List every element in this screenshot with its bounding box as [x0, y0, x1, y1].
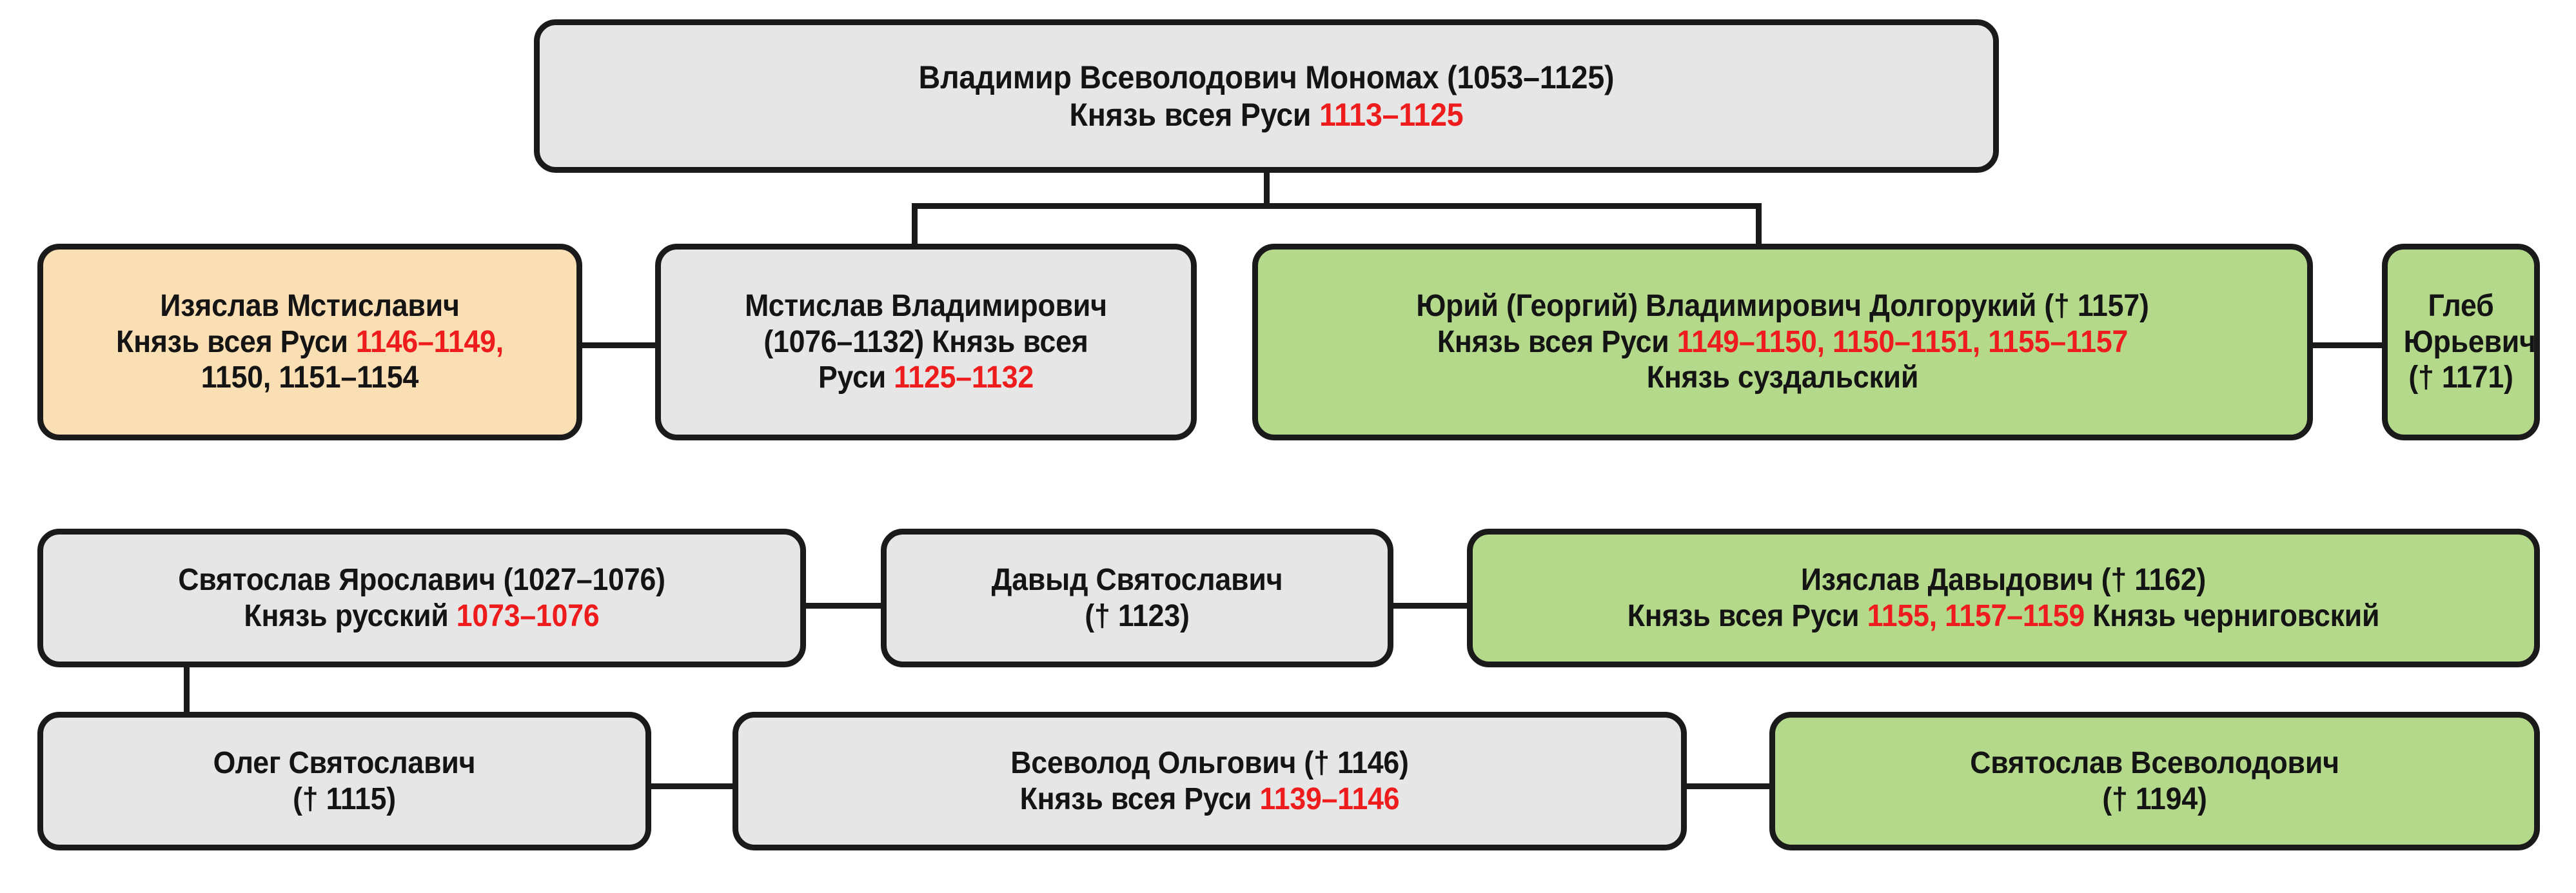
connector-vsevolod-svyatoslav	[1683, 783, 1773, 789]
connector-yuri-gleb	[2308, 342, 2386, 348]
node-name: Владимир Всеволодович Мономах (1053–1125…	[602, 59, 1932, 96]
connector-svyatoslav-oleg	[184, 664, 190, 714]
node-vsevolod-olgovich[interactable]: Всеволод Ольгович († 1146) Князь всея Ру…	[732, 712, 1687, 850]
node-dates: (1076–1132) Князь всея	[691, 324, 1162, 360]
node-death-year: († 1194)	[1813, 781, 2497, 818]
connector-to-mstislav	[912, 203, 918, 245]
reign-years: 1073–1076	[457, 599, 600, 633]
connector-oleg-vsevolod	[648, 783, 735, 789]
node-death-year: († 1115)	[75, 781, 613, 818]
reign-years: 1149–1150, 1150–1151, 1155–1157	[1677, 325, 2128, 359]
node-name: Всеволод Ольгович († 1146)	[782, 745, 1637, 781]
node-name: Юрий (Георгий) Владимирович Долгорукий (…	[1306, 288, 2260, 324]
node-title: Руси 1125–1132	[691, 360, 1162, 396]
node-title: Князь всея Руси 1139–1146	[782, 781, 1637, 818]
connector-svyatoslav-davyd	[803, 603, 883, 609]
connector-to-yuri	[1756, 203, 1762, 245]
connector-sibling-bus	[912, 203, 1762, 209]
connector-izyaslav-mstislav	[578, 342, 659, 348]
node-svyatoslav-yaroslavich[interactable]: Святослав Ярославич (1027–1076) Князь ру…	[37, 529, 806, 667]
node-name: Изяслав Давыдович († 1162)	[1520, 562, 2486, 598]
reign-years-line1: 1146–1149,	[356, 325, 504, 359]
node-name: Святослав Всеволодович	[1813, 745, 2497, 781]
node-title: Князь всея Руси 1149–1150, 1150–1151, 11…	[1306, 324, 2260, 360]
genealogy-diagram: Владимир Всеволодович Мономах (1053–1125…	[0, 0, 2576, 893]
node-svyatoslav-vsevolodovich[interactable]: Святослав Всеволодович († 1194)	[1769, 712, 2540, 850]
node-davyd-svyatoslavich[interactable]: Давыд Святославич († 1123)	[881, 529, 1393, 667]
node-vladimir-monomakh[interactable]: Владимир Всеволодович Мономах (1053–1125…	[534, 19, 1999, 173]
connector-davyd-izyaslav	[1390, 603, 1470, 609]
node-title: Князь русский 1073–1076	[81, 598, 763, 634]
node-name-patronymic: Юрьевич	[2404, 324, 2519, 360]
node-gleb-yuryevich[interactable]: Глеб Юрьевич († 1171)	[2382, 244, 2540, 440]
node-mstislav-vladimirovich[interactable]: Мстислав Владимирович (1076–1132) Князь …	[655, 244, 1197, 440]
node-izyaslav-davydovich[interactable]: Изяслав Давыдович († 1162) Князь всея Ру…	[1467, 529, 2540, 667]
node-name: Святослав Ярославич (1027–1076)	[81, 562, 763, 598]
reign-years: 1125–1132	[894, 360, 1034, 395]
node-name-first: Глеб	[2404, 288, 2519, 324]
node-yuri-dolgoruky[interactable]: Юрий (Георгий) Владимирович Долгорукий (…	[1252, 244, 2313, 440]
node-death-year: († 1171)	[2404, 360, 2519, 396]
node-title-secondary: Князь черниговский	[2085, 599, 2379, 633]
connector-monomakh-down	[1264, 169, 1270, 206]
node-izyaslav-mstislavich[interactable]: Изяслав Мстиславич Князь всея Руси 1146–…	[37, 244, 582, 440]
node-name: Мстислав Владимирович	[691, 288, 1162, 324]
node-title: Князь всея Руси 1146–1149,	[73, 324, 547, 360]
node-name: Изяслав Мстиславич	[73, 288, 547, 324]
node-death-year: († 1123)	[915, 598, 1359, 634]
reign-years-line2: 1150, 1151–1154	[73, 360, 547, 396]
node-name: Олег Святославич	[75, 745, 613, 781]
node-oleg-svyatoslavich[interactable]: Олег Святославич († 1115)	[37, 712, 651, 850]
node-title: Князь всея Руси 1113–1125	[602, 96, 1932, 133]
reign-years: 1113–1125	[1319, 97, 1463, 133]
node-title-secondary: Князь суздальский	[1306, 360, 2260, 396]
node-name: Давыд Святославич	[915, 562, 1359, 598]
node-title: Князь всея Руси 1155, 1157–1159 Князь че…	[1520, 598, 2486, 634]
reign-years: 1139–1146	[1260, 782, 1400, 816]
reign-years: 1155, 1157–1159	[1867, 599, 2085, 633]
